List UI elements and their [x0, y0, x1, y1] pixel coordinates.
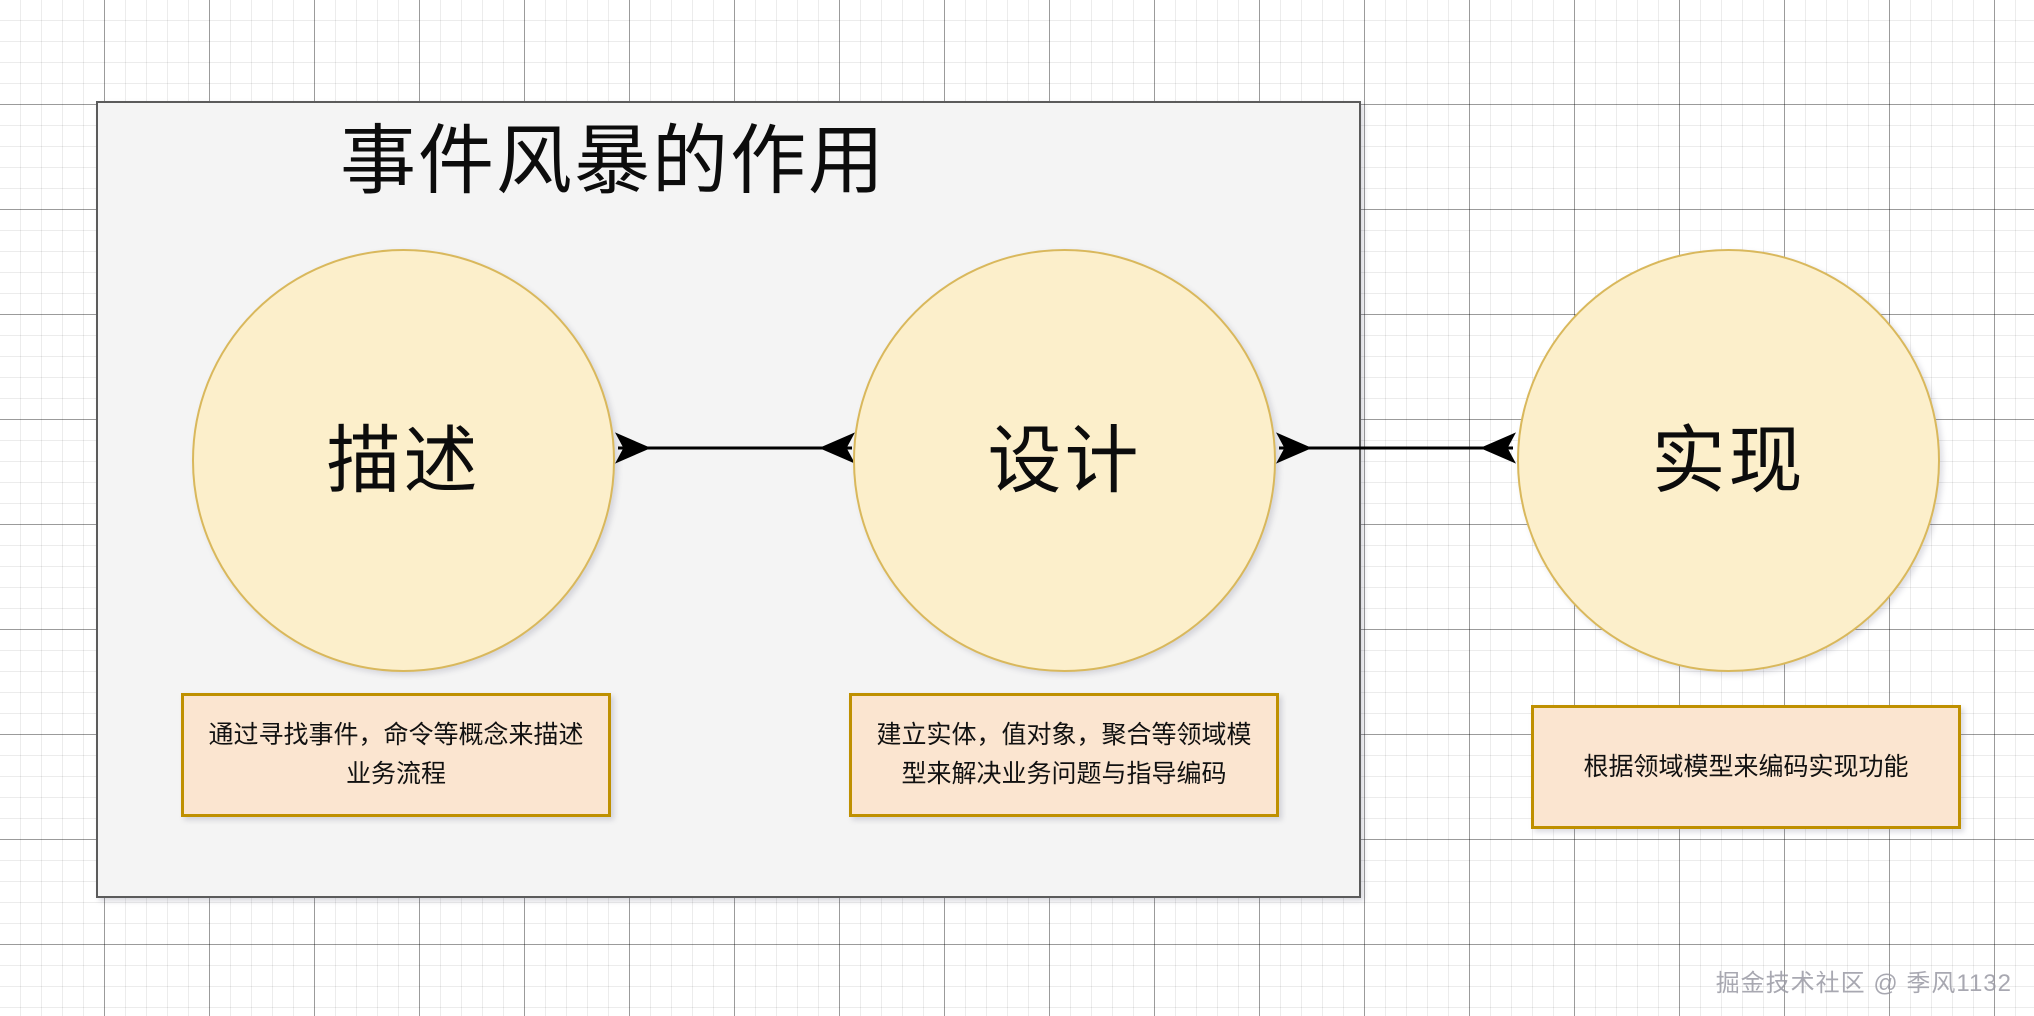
node-circle-describe[interactable]: 描述 — [192, 249, 615, 672]
node-circle-design[interactable]: 设计 — [853, 249, 1276, 672]
connector-design-implement-arrow — [1265, 433, 1527, 463]
note-text-describe: 通过寻找事件，命令等概念来描述业务流程 — [184, 716, 608, 794]
node-label-describe: 描述 — [327, 424, 481, 498]
diagram-canvas: 事件风暴的作用 描述 设计 实现 — [0, 0, 2034, 1016]
connector-describe-design-arrow — [604, 433, 866, 463]
note-text-implement: 根据领域模型来编码实现功能 — [1569, 748, 1922, 787]
note-text-design: 建立实体，值对象，聚合等领域模型来解决业务问题与指导编码 — [852, 716, 1276, 794]
page-title: 事件风暴的作用 — [340, 118, 1160, 205]
note-box-design[interactable]: 建立实体，值对象，聚合等领域模型来解决业务问题与指导编码 — [849, 693, 1279, 817]
node-label-implement: 实现 — [1652, 424, 1806, 498]
note-box-describe[interactable]: 通过寻找事件，命令等概念来描述业务流程 — [181, 693, 611, 817]
node-label-design: 设计 — [988, 424, 1142, 498]
note-box-implement[interactable]: 根据领域模型来编码实现功能 — [1531, 705, 1961, 829]
node-circle-implement[interactable]: 实现 — [1517, 249, 1940, 672]
watermark-label: 掘金技术社区 @ 季风1132 — [1716, 963, 2012, 998]
